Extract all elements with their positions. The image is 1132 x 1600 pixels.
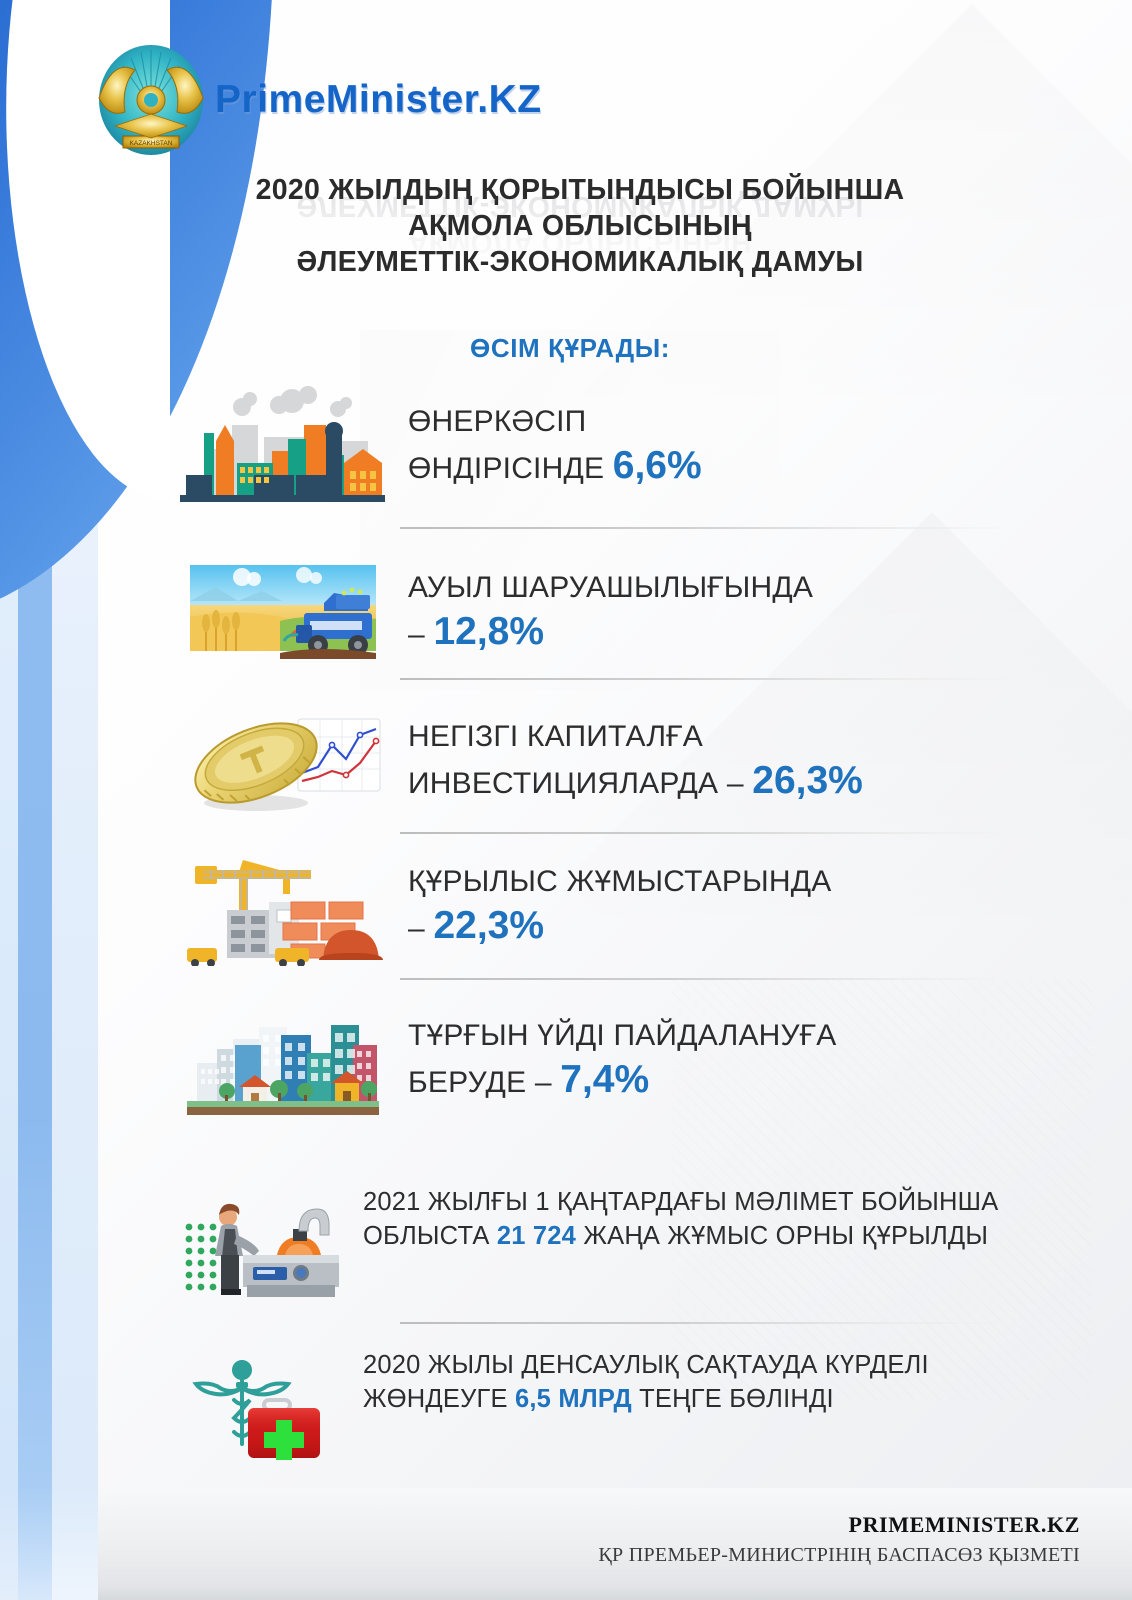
svg-text:KAZAKHSTAN: KAZAKHSTAN bbox=[130, 140, 173, 147]
row-dash-investment: – bbox=[727, 767, 744, 800]
worker-machine-icon bbox=[175, 1185, 355, 1303]
page-title: 2020 ЖЫЛДЫҢ ҚОРЫТЫНДЫСЫ БОЙЫНША АҚМОЛА О… bbox=[150, 172, 1010, 280]
row-label-construction: ҚҰРЫЛЫС ЖҰМЫСТАРЫНДА bbox=[408, 865, 831, 898]
row-label-investment-1: НЕГІЗГІ КАПИТАЛҒА bbox=[408, 720, 703, 753]
row-dash-construction: – bbox=[408, 912, 425, 945]
stat-row-housing: ТҰРҒЫН ҮЙДІ ПАЙДАЛАНУҒА БЕРУДЕ – 7,4% bbox=[175, 1000, 1055, 1118]
footer-band-pale bbox=[52, 1488, 98, 1600]
note-text-healthcare: 2020 ЖЫЛЫ ДЕНСАУЛЫҚ САҚТАУДА КҮРДЕЛІ ЖӨН… bbox=[355, 1348, 1065, 1416]
note-health-highlight: 6,5 МЛРД bbox=[515, 1385, 632, 1413]
row-dash-agriculture: – bbox=[408, 618, 425, 651]
note-jobs-post: ЖАҢА ЖҰМЫС ОРНЫ ҚҰРЫЛДЫ bbox=[576, 1222, 988, 1250]
footer-band-edge bbox=[0, 1488, 20, 1600]
stat-text-investment: НЕГІЗГІ КАПИТАЛҒА ИНВЕСТИЦИЯЛАРДА – 26,3… bbox=[390, 715, 1055, 806]
footer-subtitle: ҚР ПРЕМЬЕР-МИНИСТРІНІҢ БАСПАСӨЗ ҚЫЗМЕТІ bbox=[598, 1544, 1080, 1567]
note-health-post: ТЕҢГЕ БӨЛІНДІ bbox=[632, 1385, 834, 1413]
stat-row-agriculture: АУЫЛ ШАРУАШЫЛЫҒЫНДА – 12,8% bbox=[175, 556, 1055, 666]
stat-row-investment: НЕГІЗГІ КАПИТАЛҒА ИНВЕСТИЦИЯЛАРДА – 26,3… bbox=[175, 700, 1055, 820]
housing-icon bbox=[175, 1001, 390, 1117]
row-dash-housing: – bbox=[535, 1066, 552, 1099]
investment-coin-icon bbox=[175, 701, 390, 819]
stat-text-industry: ӨНЕРКӘСІП ӨНДІРІСІНДЕ 6,6% bbox=[390, 400, 1055, 491]
row-label-agriculture: АУЫЛ ШАРУАШЫЛЫҒЫНДА bbox=[408, 571, 813, 604]
title-line-3: ӘЛЕУМЕТТІК-ЭКОНОМИКАЛЫҚ ДАМУЫ bbox=[150, 244, 1010, 280]
stat-row-construction: ҚҰРЫЛЫС ЖҰМЫСТАРЫНДА – 22,3% bbox=[175, 845, 1055, 965]
title-line-1: 2020 ЖЫЛДЫҢ ҚОРЫТЫНДЫСЫ БОЙЫНША bbox=[150, 172, 1010, 208]
growth-heading: ӨСІМ ҚҰРАДЫ: bbox=[470, 333, 670, 364]
row-value-housing: 7,4% bbox=[560, 1058, 649, 1101]
footer: PRIMEMINISTER.KZ ҚР ПРЕМЬЕР-МИНИСТРІНІҢ … bbox=[0, 1488, 1132, 1600]
note-row-jobs: 2021 ЖЫЛҒЫ 1 ҚАҢТАРДАҒЫ МӘЛІМЕТ БОЙЫНША … bbox=[175, 1185, 1065, 1303]
row-divider bbox=[400, 978, 1012, 980]
construction-icon bbox=[175, 844, 390, 966]
note-text-jobs: 2021 ЖЫЛҒЫ 1 ҚАҢТАРДАҒЫ МӘЛІМЕТ БОЙЫНША … bbox=[355, 1185, 1065, 1253]
row-label-investment-2: ИНВЕСТИЦИЯЛАРДА bbox=[408, 767, 718, 800]
agriculture-icon bbox=[175, 559, 390, 663]
stat-text-housing: ТҰРҒЫН ҮЙДІ ПАЙДАЛАНУҒА БЕРУДЕ – 7,4% bbox=[390, 1014, 1055, 1105]
row-divider bbox=[400, 832, 1012, 834]
row-value-construction: 22,3% bbox=[433, 904, 544, 947]
infographic-page: KAZAKHSTAN PrimeMinister.KZ 2020 ЖЫЛДЫҢ … bbox=[0, 0, 1132, 1600]
row-divider bbox=[400, 1322, 1012, 1324]
footer-site-name: PRIMEMINISTER.KZ bbox=[849, 1512, 1080, 1538]
stat-text-agriculture: АУЫЛ ШАРУАШЫЛЫҒЫНДА – 12,8% bbox=[390, 566, 1055, 657]
row-label-housing-1: ТҰРҒЫН ҮЙДІ ПАЙДАЛАНУҒА bbox=[408, 1019, 836, 1052]
healthcare-icon bbox=[175, 1348, 355, 1466]
stat-row-industry: ӨНЕРКӘСІП ӨНДІРІСІНДЕ 6,6% bbox=[175, 375, 1055, 515]
row-label-industry-1: ӨНЕРКӘСІП bbox=[408, 405, 586, 438]
row-label-industry-2: ӨНДІРІСІНДЕ bbox=[408, 452, 604, 485]
row-value-investment: 26,3% bbox=[752, 759, 863, 802]
row-value-industry: 6,6% bbox=[613, 444, 702, 487]
kazakhstan-emblem-icon: KAZAKHSTAN bbox=[95, 40, 207, 165]
factory-icon bbox=[175, 379, 390, 511]
stat-text-construction: ҚҰРЫЛЫС ЖҰМЫСТАРЫНДА – 22,3% bbox=[390, 860, 1055, 951]
note-jobs-highlight: 21 724 bbox=[497, 1222, 576, 1250]
row-label-housing-2: БЕРУДЕ bbox=[408, 1066, 526, 1099]
brand-text: PrimeMinister.KZ bbox=[215, 78, 542, 121]
note-row-healthcare: 2020 ЖЫЛЫ ДЕНСАУЛЫҚ САҚТАУДА КҮРДЕЛІ ЖӨН… bbox=[175, 1348, 1065, 1466]
row-value-agriculture: 12,8% bbox=[433, 610, 544, 653]
row-divider bbox=[400, 678, 1012, 680]
brand-logo-text: PrimeMinister.KZ bbox=[215, 78, 542, 122]
row-divider bbox=[400, 527, 1012, 529]
title-line-2: АҚМОЛА ОБЛЫСЫНЫҢ bbox=[150, 208, 1010, 244]
